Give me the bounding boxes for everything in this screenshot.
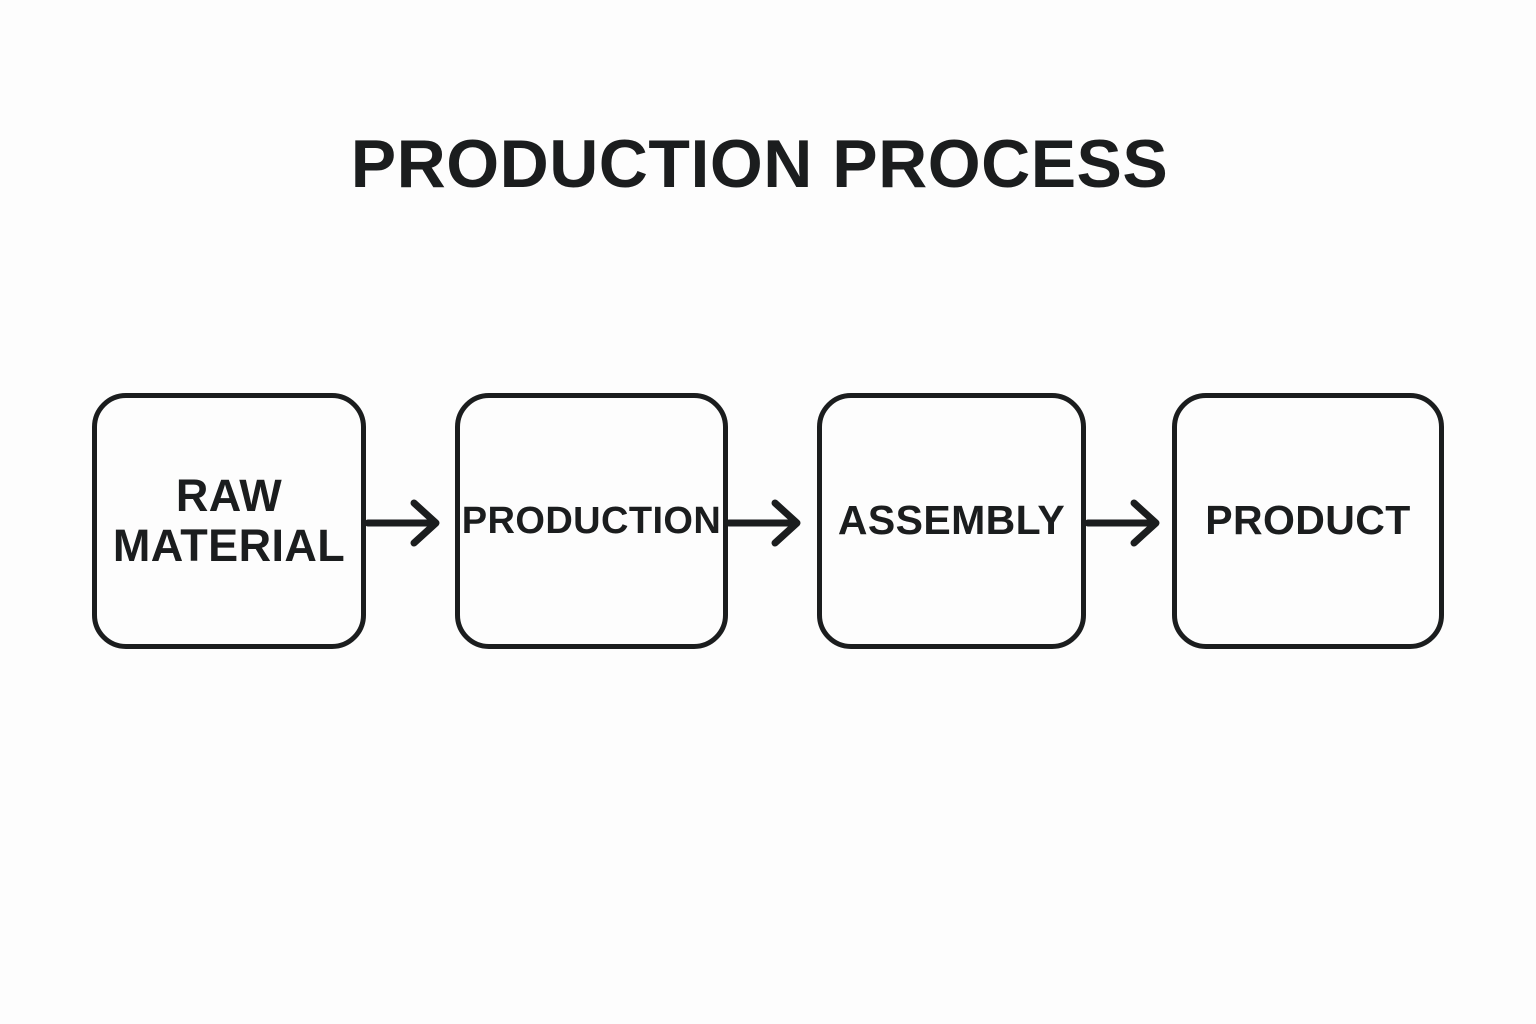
arrow-right-icon xyxy=(1086,495,1166,551)
process-node-label: PRODUCTION xyxy=(456,500,727,543)
arrow-right-icon xyxy=(366,495,446,551)
process-flow: RAW MATERIAL PRODUCTION ASSEMBLY xyxy=(0,0,1536,1024)
process-node-product[interactable]: PRODUCT xyxy=(1172,393,1444,649)
diagram-canvas: PRODUCTION PROCESS RAW MATERIAL PRODUCTI… xyxy=(0,0,1536,1024)
process-node-raw-material[interactable]: RAW MATERIAL xyxy=(92,393,366,649)
process-node-label: PRODUCT xyxy=(1199,498,1417,544)
process-node-production[interactable]: PRODUCTION xyxy=(455,393,728,649)
process-node-label: ASSEMBLY xyxy=(832,498,1071,544)
arrow-right-icon xyxy=(727,495,807,551)
process-node-label: RAW MATERIAL xyxy=(107,471,351,572)
process-node-assembly[interactable]: ASSEMBLY xyxy=(817,393,1086,649)
